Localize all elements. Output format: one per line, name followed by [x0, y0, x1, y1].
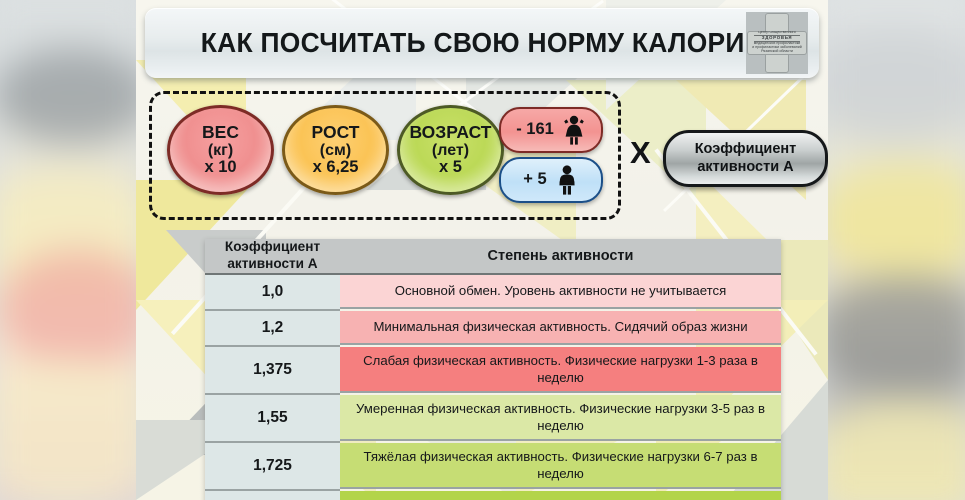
infographic-content: КАК ПОСЧИТАТЬ СВОЮ НОРМУ КАЛОРИЙ Центр О…: [136, 0, 828, 500]
height-multiplier: х 6,25: [313, 159, 359, 177]
table-row: 1,725 Тяжёлая физическая активность. Физ…: [205, 443, 781, 491]
male-value: + 5: [523, 171, 546, 189]
coefficient-line-2: активности А: [697, 159, 793, 176]
table-row: 1,55 Умеренная физическая активность. Фи…: [205, 395, 781, 443]
formula-term-age: ВОЗРАСТ (лет) х 5: [397, 105, 504, 195]
header-coefficient-line-1: Коэффициент: [225, 239, 320, 256]
activity-coefficient-pill: Коэффициент активности А: [663, 130, 828, 187]
height-label: РОСТ: [312, 123, 360, 142]
weight-multiplier: х 10: [204, 159, 236, 177]
table-row: 1,375 Слабая физическая активность. Физи…: [205, 347, 781, 395]
table-row: 1,2 Минимальная физическая активность. С…: [205, 311, 781, 347]
multiply-operator: X: [630, 135, 651, 171]
row-coefficient: 1,375: [205, 347, 340, 395]
infographic-canvas: КАК ПОСЧИТАТЬ СВОЮ НОРМУ КАЛОРИЙ Центр О…: [0, 0, 965, 500]
row-coefficient: 1,0: [205, 275, 340, 311]
blurred-right-border: [816, 0, 965, 500]
weight-label: ВЕС: [202, 123, 239, 142]
gender-badge-male: + 5: [499, 157, 603, 203]
logo-line-5: Рязанской области: [761, 50, 793, 54]
header-coefficient-line-2: активности А: [225, 256, 320, 273]
female-icon: [562, 115, 586, 145]
age-label: ВОЗРАСТ: [409, 123, 491, 142]
row-description: Слабая физическая активность. Физические…: [340, 347, 781, 393]
row-coefficient: 1,9: [205, 491, 340, 500]
height-unit: (см): [320, 142, 351, 159]
weight-unit: (кг): [208, 142, 233, 159]
table-header-row: Коэффициент активности А Степень активно…: [205, 239, 781, 275]
age-multiplier: х 5: [439, 159, 462, 177]
row-coefficient: 1,55: [205, 395, 340, 443]
formula-term-weight: ВЕС (кг) х 10: [167, 105, 274, 195]
age-unit: (лет): [432, 142, 469, 159]
row-description: Умеренная физическая активность. Физичес…: [340, 395, 781, 441]
health-center-logo: Центр Общественного ЗДОРОВЬЯ медицинских…: [746, 12, 808, 74]
row-coefficient: 1,725: [205, 443, 340, 491]
row-description: Экстремальная физическая активность. Инт…: [340, 491, 781, 500]
row-description: Тяжёлая физическая активность. Физически…: [340, 443, 781, 489]
row-description: Основной обмен. Уровень активности не уч…: [340, 275, 781, 309]
row-coefficient: 1,2: [205, 311, 340, 347]
header-coefficient: Коэффициент активности А: [205, 239, 340, 275]
title-banner: КАК ПОСЧИТАТЬ СВОЮ НОРМУ КАЛОРИЙ Центр О…: [145, 8, 819, 78]
row-description: Минимальная физическая активность. Сидяч…: [340, 311, 781, 345]
header-activity-level: Степень активности: [340, 239, 781, 275]
logo-line-1: Центр Общественного: [758, 31, 796, 35]
coefficient-line-1: Коэффициент: [695, 141, 797, 158]
activity-coefficient-table: Коэффициент активности А Степень активно…: [205, 239, 781, 500]
female-value: - 161: [516, 121, 554, 139]
male-icon: [555, 165, 579, 195]
table-row: 1,9 Экстремальная физическая активность.…: [205, 491, 781, 500]
formula-term-height: РОСТ (см) х 6,25: [282, 105, 389, 195]
blurred-left-border: [0, 0, 149, 500]
page-title: КАК ПОСЧИТАТЬ СВОЮ НОРМУ КАЛОРИЙ: [200, 27, 763, 59]
gender-badge-female: - 161: [499, 107, 603, 153]
table-row: 1,0 Основной обмен. Уровень активности н…: [205, 275, 781, 311]
